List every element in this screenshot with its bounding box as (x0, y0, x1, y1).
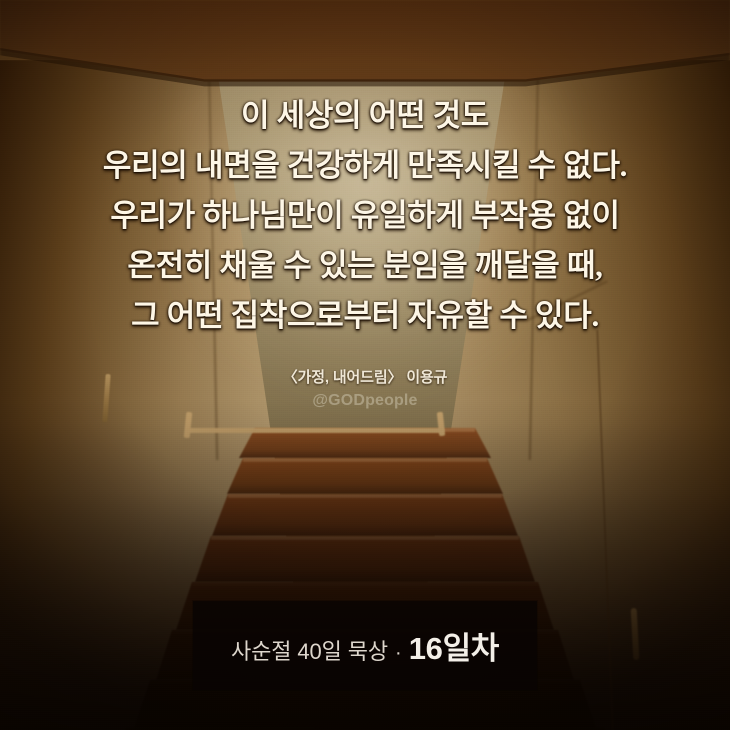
quote-line-4: 온전히 채울 수 있는 분임을 깨달을 때, (0, 250, 730, 281)
stair-nosing (0, 536, 730, 540)
quote-line-3: 우리가 하나님만이 유일하게 부작용 없이 (0, 200, 730, 231)
stair-tread-surface (0, 536, 730, 582)
stair-top-nosing (188, 428, 444, 433)
quote-line-1: 이 세상의 어떤 것도 (0, 100, 730, 131)
quote-card: 이 세상의 어떤 것도 우리의 내면을 건강하게 만족시킬 수 없다. 우리가 … (0, 0, 730, 730)
series-day-badge: 16일차 (409, 623, 499, 668)
stair-tread-surface (0, 458, 730, 494)
quote-block: 이 세상의 어떤 것도 우리의 내면을 건강하게 만족시킬 수 없다. 우리가 … (0, 100, 730, 331)
series-separator: · (388, 642, 409, 665)
stair-nosing (0, 582, 730, 586)
series-title: 사순절 40일 묵상 (231, 634, 388, 666)
stair-nosing (0, 494, 730, 498)
quote-line-5: 그 어떤 집착으로부터 자유할 수 있다. (0, 300, 730, 331)
stair-tread (0, 536, 730, 582)
series-banner-inner: 사순절 40일 묵상 · 16일차 (231, 623, 499, 668)
stair-tread (0, 494, 730, 536)
series-banner: 사순절 40일 묵상 · 16일차 (193, 601, 537, 690)
quote-line-2: 우리의 내면을 건강하게 만족시킬 수 없다. (0, 150, 730, 181)
stair-nosing (0, 458, 730, 462)
stair-tread-surface (0, 494, 730, 536)
watermark-handle: @GODpeople (0, 392, 730, 410)
stair-tread (0, 458, 730, 494)
quote-source: 〈가정, 내어드림〉 이용규 (0, 366, 730, 387)
attribution-block: 〈가정, 내어드림〉 이용규 @GODpeople (0, 366, 730, 410)
